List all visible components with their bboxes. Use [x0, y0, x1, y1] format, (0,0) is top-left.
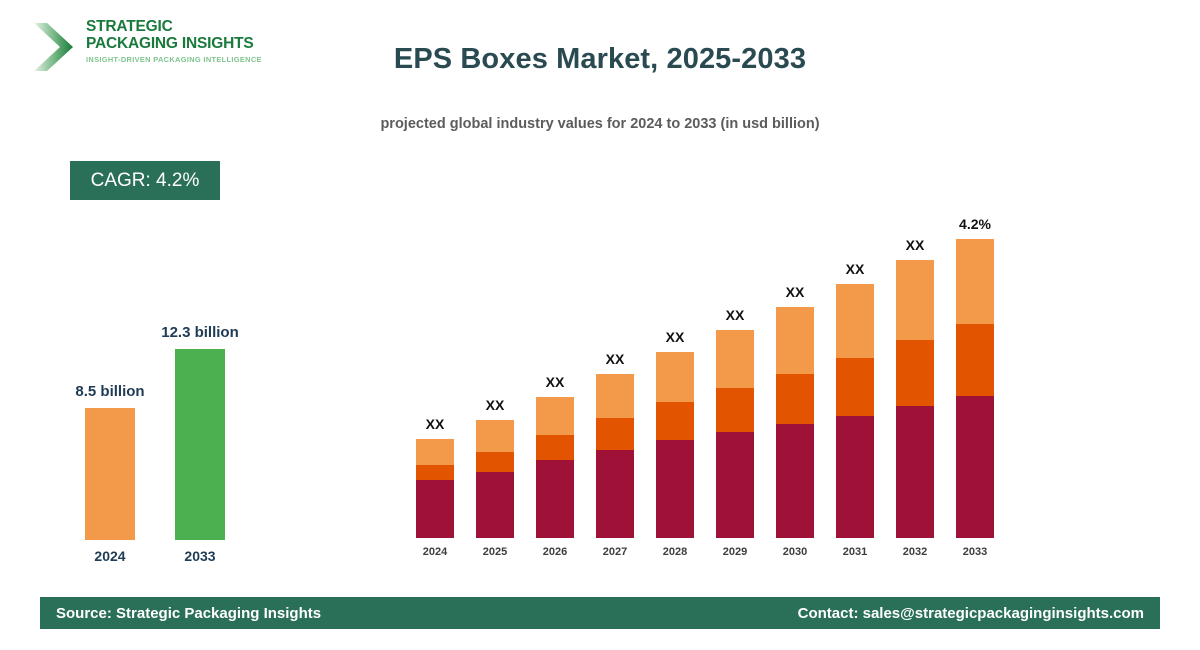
- stacked-bar-2033: [956, 239, 994, 538]
- stacked-segment-segment-middle: [956, 324, 994, 396]
- comparison-value-label: 8.5 billion: [58, 383, 162, 400]
- stacked-year-label: 2026: [524, 546, 586, 558]
- comparison-column-2024: 8.5 billion2024: [75, 300, 145, 570]
- stacked-bar-label: XX: [822, 261, 888, 277]
- stacked-bar-label: 4.2%: [942, 216, 1008, 232]
- stacked-segment-segment-top: [776, 307, 814, 374]
- stacked-segment-segment-top: [596, 374, 634, 418]
- stacked-segment-segment-middle: [896, 340, 934, 406]
- stacked-bar-label: XX: [642, 329, 708, 345]
- cagr-badge: CAGR: 4.2%: [70, 161, 220, 200]
- stacked-segment-segment-middle: [536, 435, 574, 460]
- stacked-bar-chart: XX2024XX2025XX2026XX2027XX2028XX2029XX20…: [408, 200, 1008, 560]
- stacked-bar-label: XX: [702, 307, 768, 323]
- stacked-bar-2029: [716, 330, 754, 538]
- stacked-segment-segment-middle: [656, 402, 694, 440]
- stacked-bar-label: XX: [762, 284, 828, 300]
- stacked-bar-2032: [896, 260, 934, 538]
- stacked-column-2025: XX2025: [476, 200, 514, 560]
- stacked-segment-segment-middle: [776, 374, 814, 424]
- stacked-segment-segment-bottom: [776, 424, 814, 538]
- stacked-segment-segment-top: [716, 330, 754, 388]
- stacked-segment-segment-top: [956, 239, 994, 324]
- stacked-year-label: 2028: [644, 546, 706, 558]
- stacked-segment-segment-middle: [416, 465, 454, 480]
- footer-source-text: Source: Strategic Packaging Insights: [56, 597, 321, 629]
- stacked-segment-segment-bottom: [716, 432, 754, 538]
- page-subtitle: projected global industry values for 202…: [0, 116, 1200, 132]
- stacked-column-2028: XX2028: [656, 200, 694, 560]
- stacked-column-2029: XX2029: [716, 200, 754, 560]
- comparison-bar-2024: [85, 408, 135, 540]
- stacked-column-2030: XX2030: [776, 200, 814, 560]
- stacked-segment-segment-top: [836, 284, 874, 358]
- comparison-year-label: 2033: [165, 548, 235, 564]
- stacked-column-2026: XX2026: [536, 200, 574, 560]
- stacked-column-2032: XX2032: [896, 200, 934, 560]
- footer-bar: Source: Strategic Packaging Insights Con…: [40, 597, 1160, 629]
- stacked-year-label: 2024: [404, 546, 466, 558]
- comparison-year-label: 2024: [75, 548, 145, 564]
- stacked-segment-segment-middle: [476, 452, 514, 472]
- stacked-segment-segment-bottom: [656, 440, 694, 538]
- stacked-year-label: 2029: [704, 546, 766, 558]
- stacked-bar-2024: [416, 439, 454, 538]
- stacked-bar-label: XX: [882, 237, 948, 253]
- stacked-segment-segment-top: [476, 420, 514, 452]
- stacked-bar-label: XX: [522, 374, 588, 390]
- stacked-year-label: 2032: [884, 546, 946, 558]
- stacked-bar-2031: [836, 284, 874, 538]
- stacked-bar-label: XX: [462, 397, 528, 413]
- stacked-segment-segment-bottom: [416, 480, 454, 538]
- stacked-segment-segment-bottom: [956, 396, 994, 538]
- stacked-column-2027: XX2027: [596, 200, 634, 560]
- page-title: EPS Boxes Market, 2025-2033: [0, 43, 1200, 76]
- stacked-bar-2030: [776, 307, 814, 538]
- stacked-year-label: 2027: [584, 546, 646, 558]
- stacked-bar-2028: [656, 352, 694, 538]
- comparison-bar-2033: [175, 349, 225, 540]
- stacked-bar-2026: [536, 397, 574, 538]
- stacked-segment-segment-top: [416, 439, 454, 465]
- stacked-segment-segment-bottom: [596, 450, 634, 538]
- stacked-column-2031: XX2031: [836, 200, 874, 560]
- stacked-segment-segment-middle: [836, 358, 874, 416]
- stacked-segment-segment-middle: [596, 418, 634, 450]
- stacked-year-label: 2030: [764, 546, 826, 558]
- stacked-segment-segment-top: [656, 352, 694, 402]
- stacked-year-label: 2031: [824, 546, 886, 558]
- comparison-value-label: 12.3 billion: [148, 324, 252, 341]
- stacked-year-label: 2033: [944, 546, 1006, 558]
- stacked-bar-2025: [476, 420, 514, 538]
- comparison-column-2033: 12.3 billion2033: [165, 300, 235, 570]
- stacked-segment-segment-middle: [716, 388, 754, 432]
- stacked-year-label: 2025: [464, 546, 526, 558]
- stacked-segment-segment-bottom: [536, 460, 574, 538]
- stacked-segment-segment-top: [896, 260, 934, 340]
- stacked-segment-segment-bottom: [896, 406, 934, 538]
- stacked-bar-label: XX: [582, 351, 648, 367]
- stacked-column-2024: XX2024: [416, 200, 454, 560]
- comparison-chart: 8.5 billion202412.3 billion2033: [55, 300, 275, 570]
- stacked-bar-2027: [596, 374, 634, 538]
- stacked-segment-segment-top: [536, 397, 574, 435]
- stacked-column-2033: 4.2%2033: [956, 200, 994, 560]
- footer-contact-text: Contact: sales@strategicpackaginginsight…: [798, 597, 1144, 629]
- stacked-bar-label: XX: [402, 416, 468, 432]
- stacked-segment-segment-bottom: [836, 416, 874, 538]
- logo-line-1: STRATEGIC: [86, 18, 262, 35]
- stacked-segment-segment-bottom: [476, 472, 514, 538]
